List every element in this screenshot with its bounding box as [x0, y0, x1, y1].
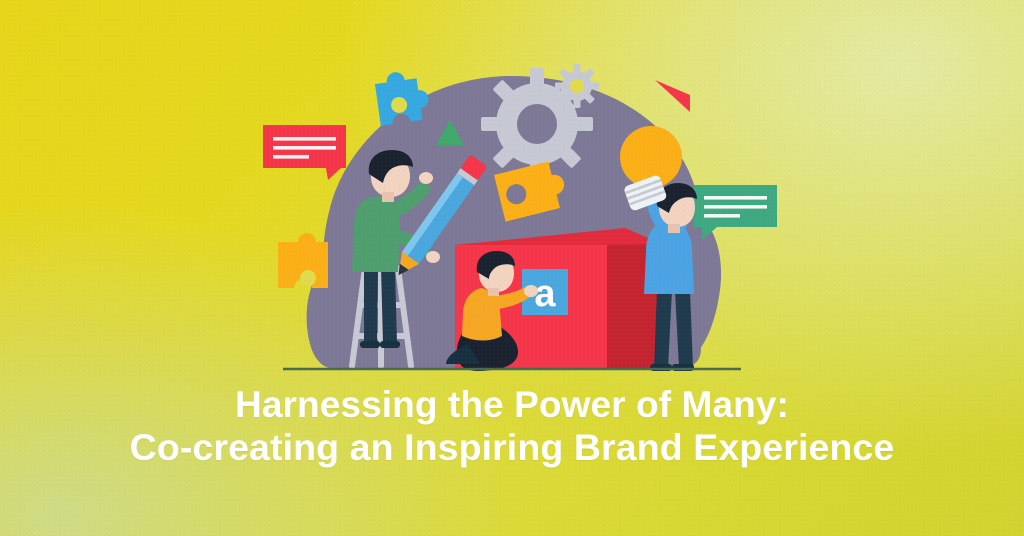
svg-text:a: a [534, 273, 556, 315]
speech-bubble-green [694, 185, 777, 240]
title-line-2: Co-creating an Inspiring Brand Experienc… [0, 426, 1024, 469]
speech-bubble-red [263, 125, 346, 180]
title-line-1: Harnessing the Power of Many: [0, 384, 1024, 426]
puzzle-piece-orange-small-icon [278, 233, 328, 288]
triangle-pink-icon [655, 80, 690, 112]
banner: a [0, 0, 1024, 536]
page-title: Harnessing the Power of Many: Co-creatin… [0, 384, 1024, 469]
